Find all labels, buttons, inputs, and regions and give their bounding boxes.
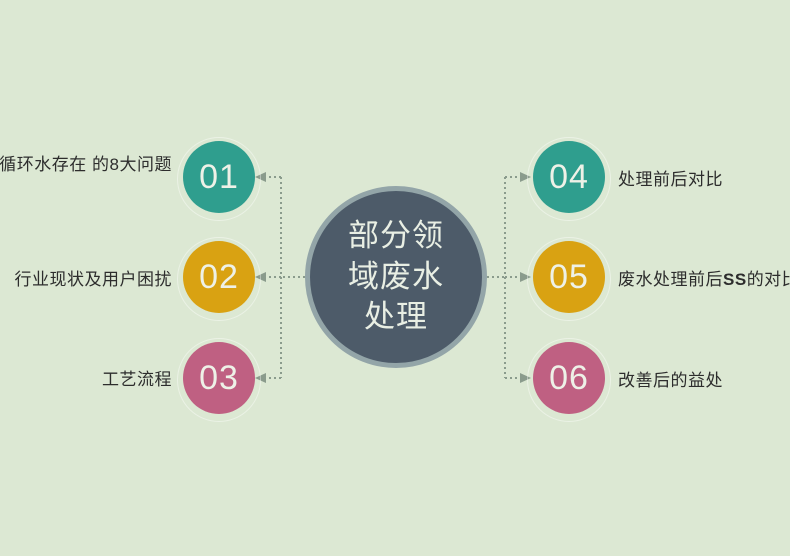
node-label-01: 目前涂装循环水存在 的8大问题 [0, 150, 172, 180]
node-number-02: 02 [199, 260, 239, 294]
node-circle-02[interactable]: 02 [183, 241, 255, 313]
node-circle-01[interactable]: 01 [183, 141, 255, 213]
diagram-canvas: 部分领 域废水 处理 01 02 03 04 05 06 目前涂装循环水存在 的… [0, 0, 790, 556]
node-circle-06[interactable]: 06 [533, 342, 605, 414]
node-label-06: 改善后的益处 [618, 366, 790, 396]
node-number-06: 06 [549, 361, 589, 395]
node-label-05-part3: 的对比 [747, 270, 790, 289]
node-label-04: 处理前后对比 [618, 165, 790, 195]
node-circle-03[interactable]: 03 [183, 342, 255, 414]
node-circle-04[interactable]: 04 [533, 141, 605, 213]
node-number-03: 03 [199, 361, 239, 395]
node-label-05: 废水处理前后SS的对比 [618, 265, 790, 295]
node-label-03: 工艺流程 [0, 365, 172, 395]
node-number-01: 01 [199, 160, 239, 194]
node-label-05-part1: 废水处理前后 [618, 270, 723, 289]
node-circle-05[interactable]: 05 [533, 241, 605, 313]
center-hub-label: 部分领 域废水 处理 [348, 216, 444, 339]
center-hub[interactable]: 部分领 域废水 处理 [305, 186, 487, 368]
node-number-04: 04 [549, 160, 589, 194]
node-label-02: 行业现状及用户困扰 [0, 265, 172, 295]
node-label-05-emphasis: SS [723, 270, 747, 289]
node-number-05: 05 [549, 260, 589, 294]
